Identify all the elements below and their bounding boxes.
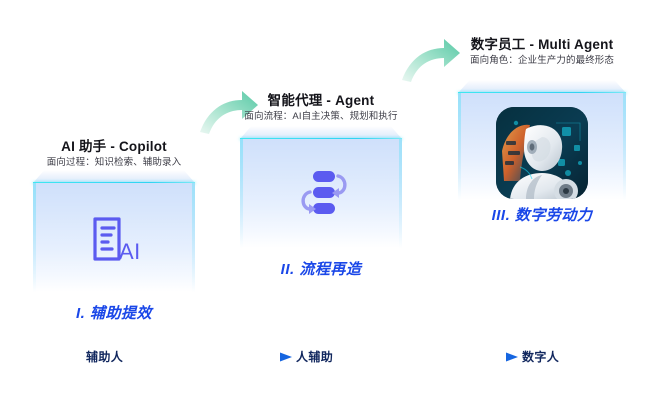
document-ai-icon: AI bbox=[83, 211, 145, 278]
progression-arrow-1 bbox=[136, 350, 292, 369]
progression-label-3: 数字人 bbox=[522, 348, 559, 365]
stage-multi-agent-heading: 数字员工 - Multi Agent 面向角色：企业生产力的最终形态 bbox=[470, 36, 614, 68]
stage-block bbox=[240, 126, 402, 248]
block-front-face bbox=[458, 93, 626, 200]
stage-block bbox=[458, 80, 626, 200]
stage-subtitle: 面向流程：AI自主决策、规划和执行 bbox=[244, 110, 397, 124]
stage-copilot-heading: AI 助手 - Copilot 面向过程：知识检索、辅助录入 bbox=[47, 138, 181, 170]
stage-block: AI bbox=[33, 170, 195, 292]
stage-transition-arrow-2 bbox=[400, 36, 462, 86]
stage-caption: I. 辅助提效 bbox=[76, 302, 152, 323]
stage-subtitle: 面向过程：知识检索、辅助录入 bbox=[47, 156, 181, 170]
stage-title: AI 助手 - Copilot bbox=[47, 138, 181, 155]
stage-title: 数字员工 - Multi Agent bbox=[470, 36, 614, 53]
progression-arrow-2 bbox=[348, 350, 518, 369]
stage-agent-heading: 智能代理 - Agent 面向流程：AI自主决策、规划和执行 bbox=[244, 92, 397, 124]
workflow-loop-icon bbox=[289, 161, 353, 230]
progression-label-1: 辅助人 bbox=[86, 348, 123, 365]
svg-text:AI: AI bbox=[119, 239, 141, 264]
evolution-diagram: AI 助手 - Copilot 面向过程：知识检索、辅助录入 bbox=[0, 0, 662, 412]
stage-caption: II. 流程再造 bbox=[281, 258, 362, 279]
stage-caption: III. 数字劳动力 bbox=[492, 204, 593, 225]
block-front-face: AI bbox=[33, 183, 195, 292]
stage-subtitle: 面向角色：企业生产力的最终形态 bbox=[470, 54, 614, 68]
progression-axis: 辅助人 人辅助 数字人 bbox=[0, 348, 662, 376]
block-front-face bbox=[240, 139, 402, 248]
stage-title: 智能代理 - Agent bbox=[244, 92, 397, 109]
robot-portrait-image bbox=[496, 107, 588, 199]
progression-label-2: 人辅助 bbox=[296, 348, 333, 365]
